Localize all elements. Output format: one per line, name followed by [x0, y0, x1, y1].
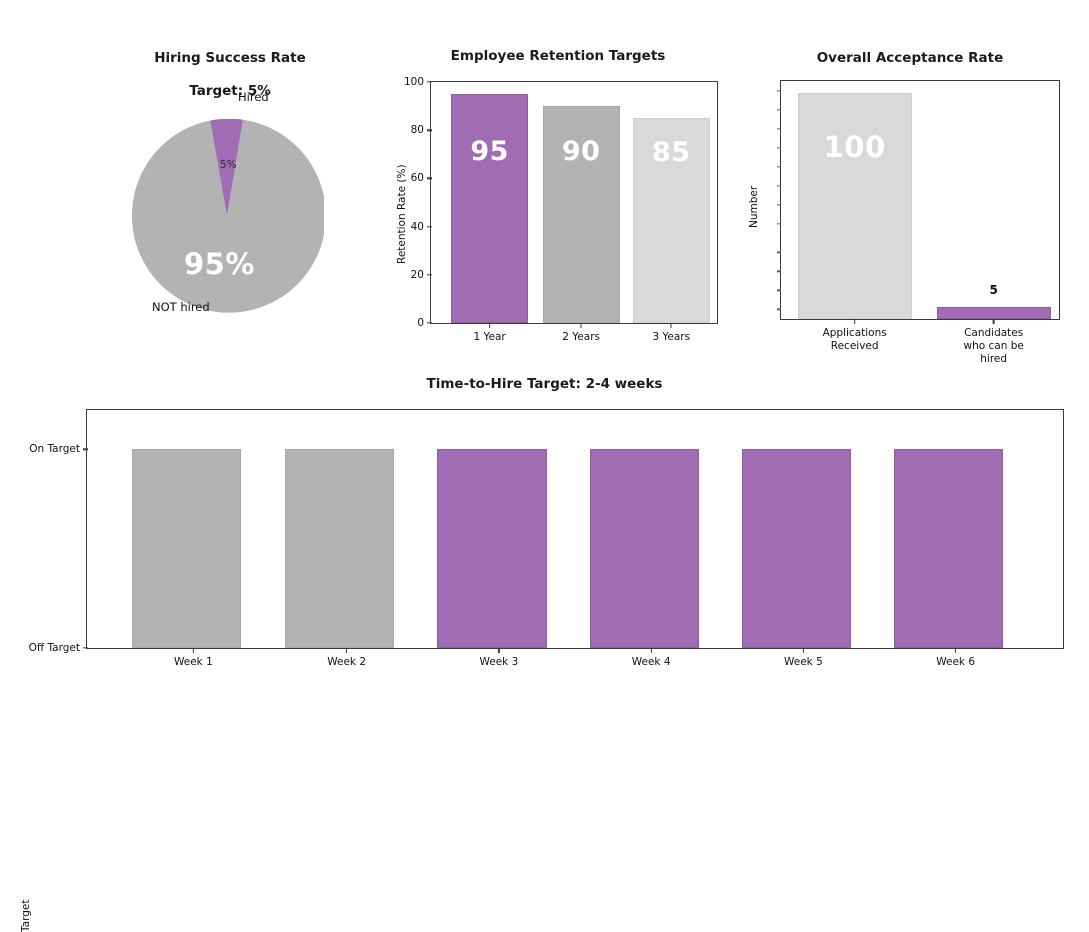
- xtick-applications-received: Applications Received: [823, 319, 887, 353]
- xtick-week-5: Week 5: [784, 648, 823, 669]
- ytick-mark-5: [777, 166, 781, 167]
- ytick-mark-12: [777, 309, 781, 310]
- xtick-week-6: Week 6: [936, 648, 975, 669]
- ytick-60: 60: [411, 172, 431, 184]
- yaxis-label-retention-rate: Retention Rate (%): [396, 164, 408, 264]
- chart-title-line1: Hiring Success Rate: [154, 50, 306, 66]
- ytick-mark-8: [777, 223, 781, 224]
- ytick-mark-10: [777, 271, 781, 272]
- bar-3-years[interactable]: 85: [633, 118, 710, 323]
- ytick-off-target: Off Target: [29, 642, 87, 654]
- ytick-100: 100: [404, 76, 431, 88]
- pie-slice-label-not-hired: NOT hired: [152, 300, 210, 314]
- chart-title-employee-retention: Employee Retention Targets: [388, 48, 728, 64]
- ytick-mark-6: [777, 185, 781, 186]
- bar-week-4[interactable]: [590, 449, 699, 648]
- xtick-week-1: Week 1: [174, 648, 213, 669]
- panel-time-to-hire: Time-to-Hire Target: 2-4 weeks Target On…: [0, 372, 1089, 672]
- xtick-week-4: Week 4: [632, 648, 671, 669]
- xtick-1-year: 1 Year: [474, 323, 506, 344]
- bar-applications-received[interactable]: 100: [798, 93, 912, 319]
- bar-candidates-hired[interactable]: [937, 307, 1051, 319]
- yaxis-label-number: Number: [748, 186, 760, 228]
- ytick-20: 20: [411, 269, 431, 281]
- pie-value-hired: 5%: [220, 159, 237, 171]
- ytick-40: 40: [411, 221, 431, 233]
- ytick-mark-1: [777, 90, 781, 91]
- pie-slice-label-hired: Hired: [238, 90, 269, 104]
- xtick-week-3: Week 3: [479, 648, 518, 669]
- ytick-mark-9: [777, 252, 781, 253]
- bar-value-3-years: 85: [634, 137, 709, 168]
- chart-title-hiring-success-rate: Hiring Success Rate Target: 5%: [100, 34, 360, 100]
- ytick-mark-2: [777, 109, 781, 110]
- ytick-mark-7: [777, 204, 781, 205]
- plot-area-employee-retention: 0 20 40 60 80 100 95 90 85 1 Year 2 Year…: [430, 81, 718, 324]
- ytick-80: 80: [411, 124, 431, 136]
- xtick-week-2: Week 2: [327, 648, 366, 669]
- ytick-0: 0: [417, 317, 431, 329]
- bar-2-years[interactable]: 90: [543, 106, 620, 323]
- chart-title-overall-line1: Overall Acceptance Rate: [817, 50, 1004, 66]
- xtick-3-years: 3 Years: [652, 323, 690, 344]
- panel-employee-retention-targets: Employee Retention Targets Retention Rat…: [388, 44, 728, 344]
- bar-value-2-years: 90: [544, 136, 619, 167]
- bar-week-3[interactable]: [437, 449, 546, 648]
- chart-title-time-to-hire: Time-to-Hire Target: 2-4 weeks: [0, 376, 1089, 392]
- bar-value-candidates-hired: 5: [989, 283, 997, 297]
- bar-value-applications-received: 100: [799, 130, 911, 164]
- bar-week-1[interactable]: [132, 449, 241, 648]
- ytick-mark-11: [777, 290, 781, 291]
- pie-value-not-hired: 95%: [184, 247, 255, 281]
- panel-hiring-success-rate: Hiring Success Rate Target: 5% Hired 5% …: [100, 28, 360, 338]
- plot-area-overall-acceptance: 100 5 Applications Received Candidates w…: [780, 80, 1060, 320]
- bar-1-year[interactable]: 95: [451, 94, 528, 323]
- yaxis-label-target: Target: [20, 900, 32, 932]
- plot-area-time-to-hire: On Target Off Target Week 1 Week 2 Week …: [86, 409, 1064, 649]
- bar-week-6[interactable]: [894, 449, 1003, 648]
- ytick-mark-4: [777, 147, 781, 148]
- xtick-candidates-hired: Candidates who can be hired: [961, 319, 1026, 366]
- pie-chart-hiring: 5% 95%: [130, 119, 324, 313]
- bar-value-1-year: 95: [452, 136, 527, 167]
- xtick-2-years: 2 Years: [562, 323, 600, 344]
- pie-svg: [130, 119, 324, 313]
- panel-overall-acceptance-rate: Overall Acceptance Rate 5% Number 100 5 …: [740, 28, 1080, 358]
- bar-week-5[interactable]: [742, 449, 851, 648]
- bar-week-2[interactable]: [285, 449, 394, 648]
- ytick-on-target: On Target: [29, 443, 87, 455]
- ytick-mark-3: [777, 128, 781, 129]
